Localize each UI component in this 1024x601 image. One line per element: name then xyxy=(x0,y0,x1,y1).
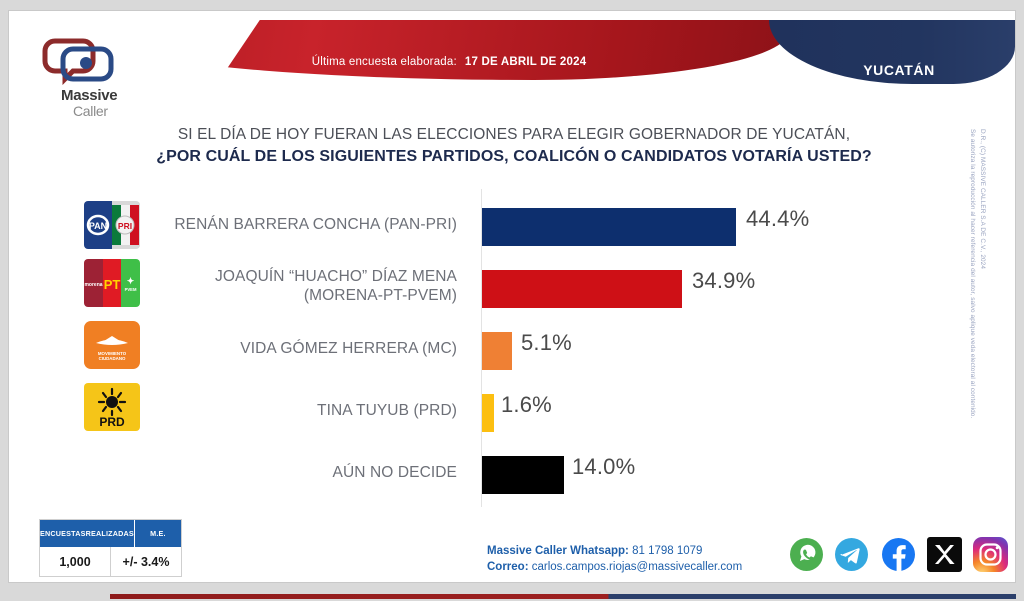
chart-bar-value: 14.0% xyxy=(572,454,635,480)
contact-email: Correo: carlos.campos.riojas@massivecall… xyxy=(487,559,742,575)
chart-row: AÚN NO DECIDE 14.0% xyxy=(9,443,1015,505)
logo-name: Massive xyxy=(61,87,117,104)
chart-row-label: VIDA GÓMEZ HERRERA (MC) xyxy=(127,339,457,358)
question-line-2: ¿POR CUÁL DE LOS SIGUIENTES PARTIDOS, CO… xyxy=(69,148,959,166)
header-banner: Última encuesta elaborada:17 DE ABRIL DE… xyxy=(9,20,1015,106)
copyright-line-1: D.R., (C) MASSIVE CALLER S.A DE C.V., 20… xyxy=(979,129,986,269)
survey-stats-header: ENCUESTAS REALIZADAS M.E. xyxy=(40,520,181,547)
logo-sub: Caller xyxy=(73,103,108,119)
x-icon[interactable] xyxy=(927,537,962,572)
chart-bar xyxy=(482,208,736,246)
survey-stats-body: 1,000 +/- 3.4% xyxy=(40,547,181,576)
massive-caller-logo: Massive Caller xyxy=(39,35,125,101)
header-state: YUCATÁN xyxy=(799,62,999,78)
chart-row-label-line1: VIDA GÓMEZ HERRERA (MC) xyxy=(240,340,457,357)
chart-row-label-line1: JOAQUÍN “HUACHO” DÍAZ MENA xyxy=(215,268,457,285)
stats-margin-error: +/- 3.4% xyxy=(111,547,181,576)
chart-bar xyxy=(482,394,494,432)
survey-stats-box: ENCUESTAS REALIZADAS M.E. 1,000 +/- 3.4% xyxy=(39,519,182,577)
contact-whatsapp-value: 81 1798 1079 xyxy=(629,545,703,557)
chart-bar xyxy=(482,270,682,308)
chart-row-label-line1: AÚN NO DECIDE xyxy=(333,464,457,481)
chart-row: TINA TUYUB (PRD) 1.6% xyxy=(9,381,1015,443)
chart-row: RENÁN BARRERA CONCHA (PAN-PRI) 44.4% xyxy=(9,195,1015,257)
chart-row-label: TINA TUYUB (PRD) xyxy=(127,401,457,420)
copyright-line-2: Se autoriza la reproducción al hacer ref… xyxy=(967,129,977,418)
contact-email-label: Correo: xyxy=(487,561,529,573)
facebook-icon[interactable] xyxy=(881,537,916,572)
chart-bar xyxy=(482,456,564,494)
contact-whatsapp-label: Massive Caller Whatsapp: xyxy=(487,545,629,557)
chart-row-label: AÚN NO DECIDE xyxy=(127,463,457,482)
chart-bar-value: 34.9% xyxy=(692,268,755,294)
copyright-notice: D.R., (C) MASSIVE CALLER S.A DE C.V., 20… xyxy=(977,129,987,429)
infographic-page: Última encuesta elaborada:17 DE ABRIL DE… xyxy=(8,10,1016,583)
chart-row-label-line1: TINA TUYUB (PRD) xyxy=(317,402,457,419)
telegram-icon[interactable] xyxy=(834,537,869,572)
question-line-1: SI EL DÍA DE HOY FUERAN LAS ELECCIONES P… xyxy=(69,126,959,144)
poll-bar-chart: RENÁN BARRERA CONCHA (PAN-PRI) 44.4% JOA… xyxy=(9,181,1015,511)
contact-email-value: carlos.campos.riojas@massivecaller.com xyxy=(529,561,743,573)
chart-bar xyxy=(482,332,512,370)
stats-col1-header: ENCUESTAS REALIZADAS xyxy=(40,520,135,547)
chart-row-label: JOAQUÍN “HUACHO” DÍAZ MENA (MORENA-PT-PV… xyxy=(127,267,457,305)
chart-row-label: RENÁN BARRERA CONCHA (PAN-PRI) xyxy=(127,215,457,234)
header-date-value: 17 DE ABRIL DE 2024 xyxy=(465,56,586,68)
chart-bar-value: 5.1% xyxy=(521,330,572,356)
header-date-label: Última encuesta elaborada: xyxy=(312,56,457,68)
speech-bubbles-icon xyxy=(39,35,125,85)
stats-sample-size: 1,000 xyxy=(40,547,111,576)
whatsapp-icon[interactable] xyxy=(789,537,824,572)
chart-bar-value: 44.4% xyxy=(746,206,809,232)
contact-info: Massive Caller Whatsapp: 81 1798 1079 Co… xyxy=(487,543,742,575)
stats-col2-header: M.E. xyxy=(135,520,181,547)
instagram-icon[interactable] xyxy=(973,537,1008,572)
header-date: Última encuesta elaborada:17 DE ABRIL DE… xyxy=(189,56,709,68)
chart-row: JOAQUÍN “HUACHO” DÍAZ MENA (MORENA-PT-PV… xyxy=(9,257,1015,319)
chart-row: VIDA GÓMEZ HERRERA (MC) 5.1% xyxy=(9,319,1015,381)
contact-whatsapp: Massive Caller Whatsapp: 81 1798 1079 xyxy=(487,543,742,559)
chart-row-label-line2: (MORENA-PT-PVEM) xyxy=(304,287,457,304)
chart-row-label-line1: RENÁN BARRERA CONCHA (PAN-PRI) xyxy=(174,216,457,233)
social-links xyxy=(789,537,1004,577)
chart-bar-value: 1.6% xyxy=(501,392,552,418)
bottom-color-strip xyxy=(110,594,1016,599)
